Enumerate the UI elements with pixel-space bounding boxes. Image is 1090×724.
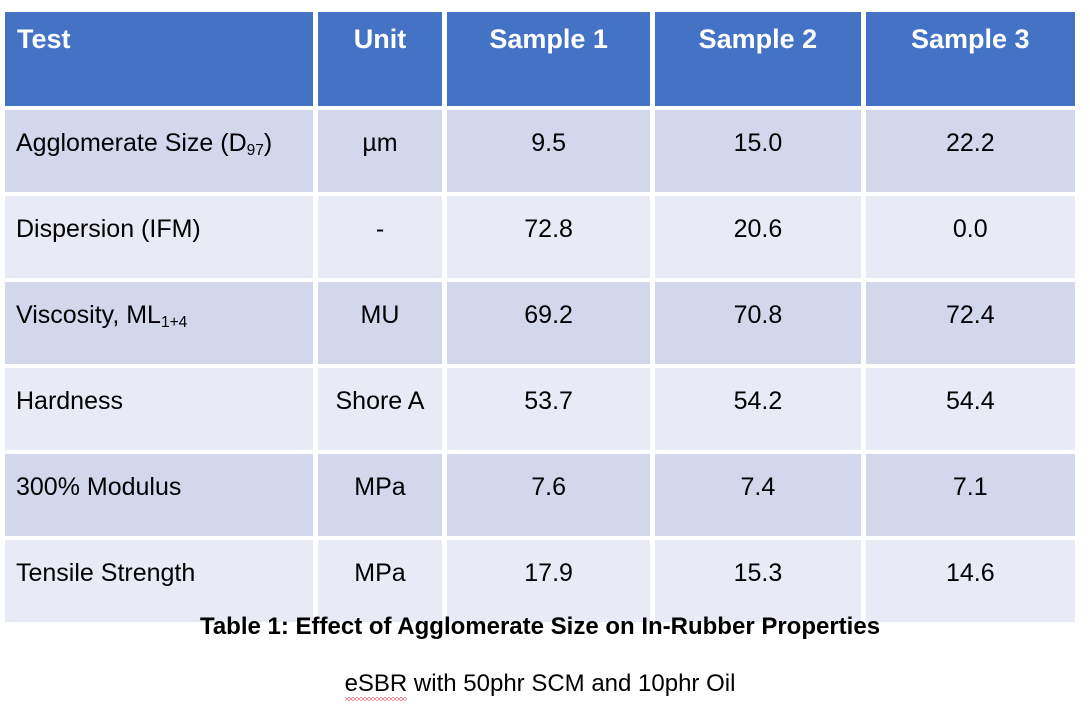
cell-sample-3-value: 22.2 bbox=[866, 110, 1075, 158]
table-subcaption-rest: with 50phr SCM and 10phr Oil bbox=[407, 670, 735, 697]
cell-sample-3-value: 7.1 bbox=[866, 454, 1075, 502]
cell-test: Tensile Strength bbox=[5, 540, 313, 622]
cell-unit-value: MPa bbox=[318, 454, 442, 502]
cell-unit: Shore A bbox=[318, 368, 442, 450]
cell-sample-1: 53.7 bbox=[447, 368, 650, 450]
cell-unit: MPa bbox=[318, 540, 442, 622]
cell-test: Agglomerate Size (D97) bbox=[5, 110, 313, 192]
cell-sample-2: 7.4 bbox=[655, 454, 860, 536]
cell-sample-3: 54.4 bbox=[866, 368, 1075, 450]
cell-sample-1: 17.9 bbox=[447, 540, 650, 622]
document-page: Test Unit Sample 1 Sample 2 Sample 3 Agg… bbox=[0, 0, 1090, 724]
column-header-test[interactable]: Test bbox=[5, 12, 313, 106]
cell-sample-1: 72.8 bbox=[447, 196, 650, 278]
cell-unit: - bbox=[318, 196, 442, 278]
cell-sample-3: 14.6 bbox=[866, 540, 1075, 622]
cell-unit-value: Shore A bbox=[318, 368, 442, 416]
table-header-row: Test Unit Sample 1 Sample 2 Sample 3 bbox=[5, 12, 1075, 106]
table-subcaption: eSBR with 50phr SCM and 10phr Oil bbox=[0, 670, 1080, 699]
cell-unit-value: - bbox=[318, 196, 442, 244]
column-header-sample-3-label: Sample 3 bbox=[866, 12, 1075, 53]
column-header-sample-2[interactable]: Sample 2 bbox=[655, 12, 860, 106]
cell-unit-value: µm bbox=[318, 110, 442, 158]
cell-sample-1: 69.2 bbox=[447, 282, 650, 364]
cell-sample-3: 22.2 bbox=[866, 110, 1075, 192]
cell-sample-3: 7.1 bbox=[866, 454, 1075, 536]
misspelled-word: eSBR bbox=[345, 670, 408, 697]
cell-sample-3: 0.0 bbox=[866, 196, 1075, 278]
table-row: Agglomerate Size (D97)µm9.515.022.2 bbox=[5, 110, 1075, 192]
table-row: 300% ModulusMPa7.67.47.1 bbox=[5, 454, 1075, 536]
cell-unit: MPa bbox=[318, 454, 442, 536]
cell-sample-1-value: 17.9 bbox=[447, 540, 650, 588]
column-header-test-label: Test bbox=[5, 12, 313, 53]
cell-sample-3: 72.4 bbox=[866, 282, 1075, 364]
table-row: Tensile StrengthMPa17.915.314.6 bbox=[5, 540, 1075, 622]
cell-sample-2: 70.8 bbox=[655, 282, 860, 364]
column-header-sample-1[interactable]: Sample 1 bbox=[447, 12, 650, 106]
cell-sample-3-value: 54.4 bbox=[866, 368, 1075, 416]
cell-sample-1-value: 72.8 bbox=[447, 196, 650, 244]
cell-sample-2: 20.6 bbox=[655, 196, 860, 278]
cell-sample-1: 9.5 bbox=[447, 110, 650, 192]
cell-test-label: Tensile Strength bbox=[5, 540, 313, 588]
cell-sample-1-value: 69.2 bbox=[447, 282, 650, 330]
cell-test: 300% Modulus bbox=[5, 454, 313, 536]
cell-unit-value: MU bbox=[318, 282, 442, 330]
cell-sample-3-value: 14.6 bbox=[866, 540, 1075, 588]
cell-unit: µm bbox=[318, 110, 442, 192]
cell-sample-3-value: 72.4 bbox=[866, 282, 1075, 330]
column-header-sample-2-label: Sample 2 bbox=[655, 12, 860, 53]
cell-unit-value: MPa bbox=[318, 540, 442, 588]
cell-test-label: 300% Modulus bbox=[5, 454, 313, 502]
column-header-sample-1-label: Sample 1 bbox=[447, 12, 650, 53]
cell-sample-3-value: 0.0 bbox=[866, 196, 1075, 244]
column-header-sample-3[interactable]: Sample 3 bbox=[866, 12, 1075, 106]
column-header-unit-label: Unit bbox=[318, 12, 442, 53]
cell-sample-2-value: 7.4 bbox=[655, 454, 860, 502]
cell-test-label: Viscosity, ML1+4 bbox=[5, 282, 313, 330]
column-header-unit[interactable]: Unit bbox=[318, 12, 442, 106]
cell-sample-2-value: 20.6 bbox=[655, 196, 860, 244]
cell-sample-2: 15.0 bbox=[655, 110, 860, 192]
cell-test: Viscosity, ML1+4 bbox=[5, 282, 313, 364]
table-body: Agglomerate Size (D97)µm9.515.022.2Dispe… bbox=[5, 110, 1075, 622]
table-caption: Table 1: Effect of Agglomerate Size on I… bbox=[0, 613, 1080, 642]
cell-sample-2-value: 54.2 bbox=[655, 368, 860, 416]
cell-sample-2: 54.2 bbox=[655, 368, 860, 450]
table-row: HardnessShore A53.754.254.4 bbox=[5, 368, 1075, 450]
cell-test-subscript: 97 bbox=[247, 142, 264, 159]
cell-sample-1: 7.6 bbox=[447, 454, 650, 536]
cell-sample-1-value: 7.6 bbox=[447, 454, 650, 502]
cell-test-tail: ) bbox=[264, 129, 272, 157]
cell-sample-2-value: 15.0 bbox=[655, 110, 860, 158]
cell-sample-2-value: 15.3 bbox=[655, 540, 860, 588]
cell-test-label: Hardness bbox=[5, 368, 313, 416]
cell-sample-1-value: 9.5 bbox=[447, 110, 650, 158]
table-row: Viscosity, ML1+4MU69.270.872.4 bbox=[5, 282, 1075, 364]
in-rubber-properties-table: Test Unit Sample 1 Sample 2 Sample 3 Agg… bbox=[0, 8, 1080, 626]
cell-unit: MU bbox=[318, 282, 442, 364]
cell-test: Hardness bbox=[5, 368, 313, 450]
cell-sample-2-value: 70.8 bbox=[655, 282, 860, 330]
table-row: Dispersion (IFM)-72.820.60.0 bbox=[5, 196, 1075, 278]
cell-test-label: Dispersion (IFM) bbox=[5, 196, 313, 244]
cell-sample-2: 15.3 bbox=[655, 540, 860, 622]
cell-test-label: Agglomerate Size (D97) bbox=[5, 110, 313, 158]
table-header: Test Unit Sample 1 Sample 2 Sample 3 bbox=[5, 12, 1075, 106]
cell-sample-1-value: 53.7 bbox=[447, 368, 650, 416]
cell-test: Dispersion (IFM) bbox=[5, 196, 313, 278]
cell-test-subscript: 1+4 bbox=[161, 314, 187, 331]
